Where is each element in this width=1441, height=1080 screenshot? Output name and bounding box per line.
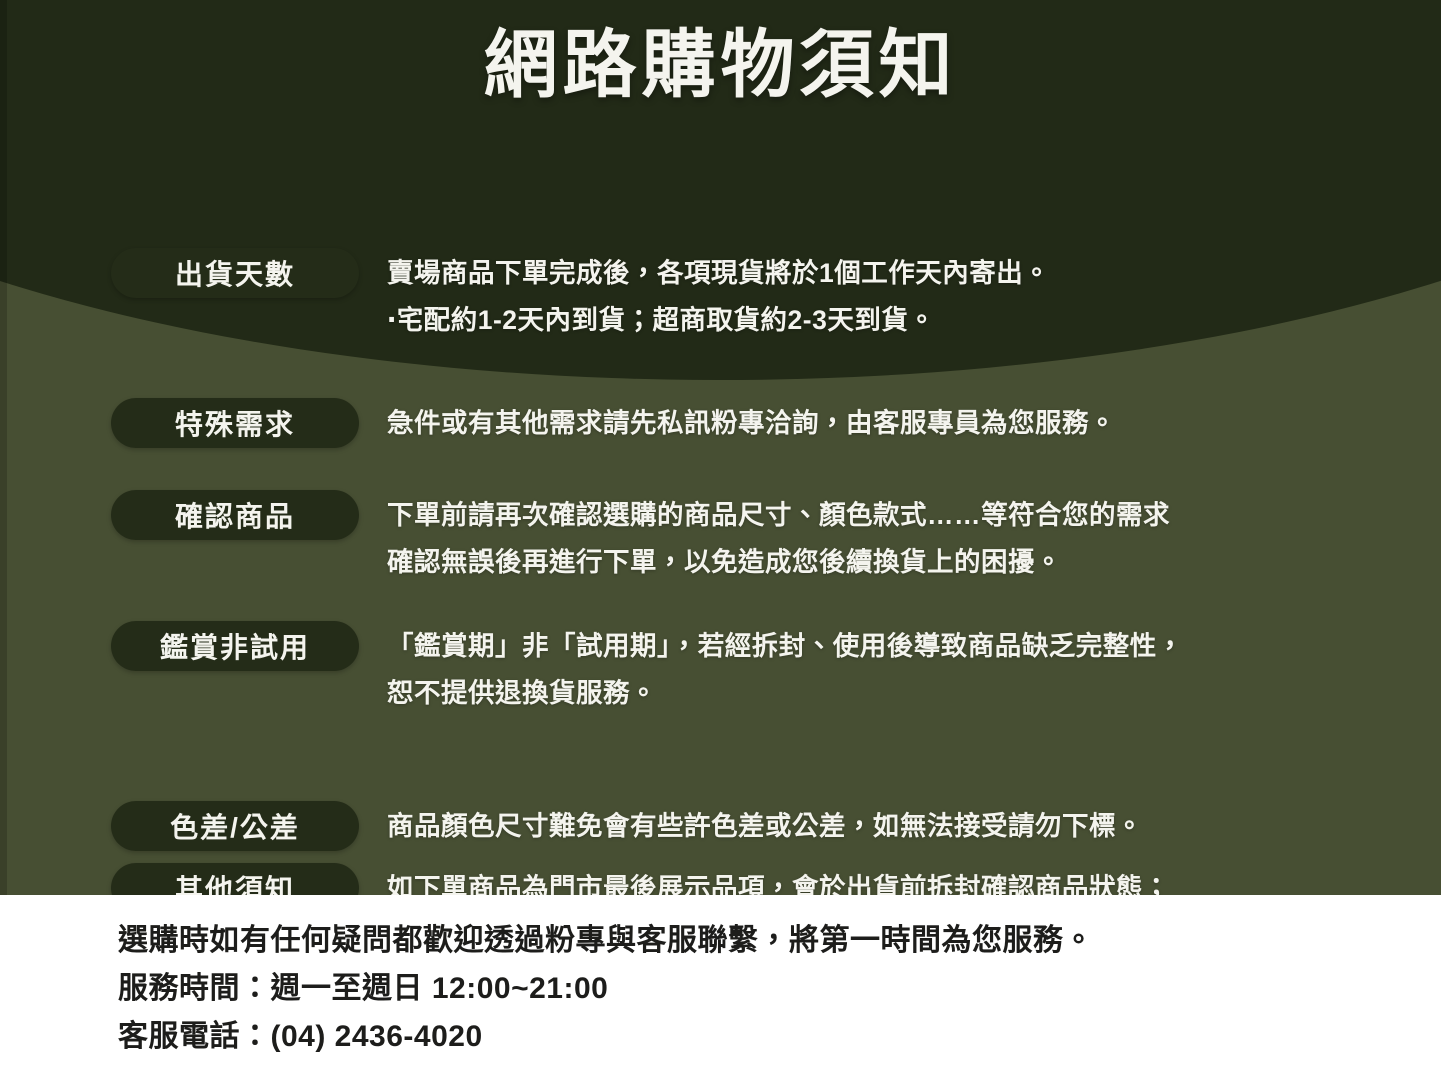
notice-line: ‧宅配約1-2天內到貨；超商取貨約2-3天到貨。: [387, 297, 1441, 344]
notice-label-color-size-tolerance: 色差/公差: [111, 801, 359, 851]
notice-label-inspection-not-trial: 鑑賞非試用: [111, 621, 359, 671]
notice-row-special-request: 特殊需求 急件或有其他需求請先私訊粉專洽詢，由客服專員為您服務。: [0, 398, 1441, 448]
notice-page: 網路購物須知 出貨天數 賣場商品下單完成後，各項現貨將於1個工作天內寄出。 ‧宅…: [0, 0, 1441, 1080]
notice-text-confirm-product: 下單前請再次確認選購的商品尺寸、顏色款式……等符合您的需求 確認無誤後再進行下單…: [359, 490, 1441, 586]
notice-label-other-notes: 其他須知: [111, 863, 359, 895]
notice-label-shipping-days: 出貨天數: [111, 248, 359, 298]
notice-row-other-notes: 其他須知 如下單商品為門市最後展示品項，會於出貨前拆封確認商品狀態； 如商品有外…: [0, 863, 1441, 895]
footer-contact-intro: 選購時如有任何疑問都歡迎透過粉專與客服聯繫，將第一時間為您服務。: [118, 917, 1441, 965]
notice-label-special-request: 特殊需求: [111, 398, 359, 448]
notice-line: 恕不提供退換貨服務。: [387, 670, 1441, 717]
notice-line: 下單前請再次確認選購的商品尺寸、顏色款式……等符合您的需求: [387, 492, 1441, 539]
footer-service-hours: 服務時間：週一至週日 12:00~21:00: [118, 965, 1441, 1013]
notice-text-other-notes: 如下單商品為門市最後展示品項，會於出貨前拆封確認商品狀態； 如商品有外觀瑕疵及影…: [359, 863, 1441, 895]
notice-line: 確認無誤後再進行下單，以免造成您後續換貨上的困擾。: [387, 539, 1441, 586]
notice-row-inspection-not-trial: 鑑賞非試用 「鑑賞期」非「試用期」，若經拆封、使用後導致商品缺乏完整性， 恕不提…: [0, 621, 1441, 717]
notice-text-inspection-not-trial: 「鑑賞期」非「試用期」，若經拆封、使用後導致商品缺乏完整性， 恕不提供退換貨服務…: [359, 621, 1441, 717]
contact-footer: 選購時如有任何疑問都歡迎透過粉專與客服聯繫，將第一時間為您服務。 服務時間：週一…: [0, 895, 1441, 1080]
notice-label-confirm-product: 確認商品: [111, 490, 359, 540]
hero-panel: 網路購物須知 出貨天數 賣場商品下單完成後，各項現貨將於1個工作天內寄出。 ‧宅…: [0, 0, 1441, 895]
notice-text-color-size-tolerance: 商品顏色尺寸難免會有些許色差或公差，如無法接受請勿下標。: [359, 801, 1441, 850]
notice-line: 急件或有其他需求請先私訊粉專洽詢，由客服專員為您服務。: [387, 400, 1441, 447]
notice-row-shipping-days: 出貨天數 賣場商品下單完成後，各項現貨將於1個工作天內寄出。 ‧宅配約1-2天內…: [0, 248, 1441, 344]
page-title: 網路購物須知: [0, 22, 1441, 107]
notice-line: 如下單商品為門市最後展示品項，會於出貨前拆封確認商品狀態；: [387, 865, 1441, 895]
notice-row-confirm-product: 確認商品 下單前請再次確認選購的商品尺寸、顏色款式……等符合您的需求 確認無誤後…: [0, 490, 1441, 586]
notice-line: 賣場商品下單完成後，各項現貨將於1個工作天內寄出。: [387, 250, 1441, 297]
notice-text-special-request: 急件或有其他需求請先私訊粉專洽詢，由客服專員為您服務。: [359, 398, 1441, 447]
footer-service-phone: 客服電話：(04) 2436-4020: [118, 1013, 1441, 1061]
notice-line: 「鑑賞期」非「試用期」，若經拆封、使用後導致商品缺乏完整性，: [387, 623, 1441, 670]
notice-section-list: 出貨天數 賣場商品下單完成後，各項現貨將於1個工作天內寄出。 ‧宅配約1-2天內…: [0, 248, 1441, 895]
notice-text-shipping-days: 賣場商品下單完成後，各項現貨將於1個工作天內寄出。 ‧宅配約1-2天內到貨；超商…: [359, 248, 1441, 344]
notice-line: 商品顏色尺寸難免會有些許色差或公差，如無法接受請勿下標。: [387, 803, 1441, 850]
notice-row-color-size-tolerance: 色差/公差 商品顏色尺寸難免會有些許色差或公差，如無法接受請勿下標。: [0, 801, 1441, 851]
